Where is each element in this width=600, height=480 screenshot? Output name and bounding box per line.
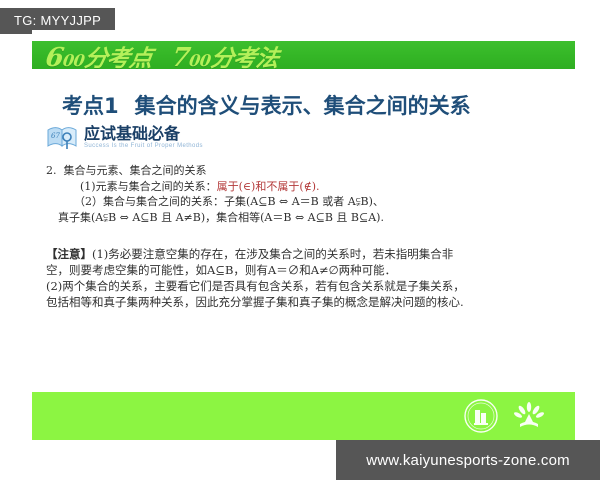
content-sub1-red: 属于(∈)和不属于(∉). (217, 180, 320, 193)
banner-word-kaodian: 分考点 (83, 45, 154, 69)
banner-word-kaofa: 分考法 (209, 45, 280, 69)
section-title: 应试基础必备 (84, 125, 203, 142)
svg-text:67: 67 (51, 132, 60, 140)
content-sub1-prefix: (1)元素与集合之间的关系： (80, 180, 217, 193)
note-marker: 【注意】 (46, 247, 92, 261)
top-green-banner: 600分考点700分考法 (32, 41, 575, 69)
note-line-4: 包括相等和真子集两种关系，因此充分掌握子集和真子集的概念是解决问题的核心. (46, 294, 562, 310)
content-body: 2. 集合与元素、集合之间的关系 (1)元素与集合之间的关系：属于(∈)和不属于… (46, 163, 558, 225)
university-seal-logo (463, 398, 499, 434)
page-title-text: 集合的含义与表示、集合之间的关系 (135, 94, 471, 118)
note-line-1-text: (1)务必要注意空集的存在，在涉及集合之间的关系时，若未指明集合非 (92, 247, 453, 261)
page-title-label: 考点1 (62, 94, 119, 118)
note-line-2: 空，则要考虑空集的可能性，如A⊆B，则有A＝∅和A≠∅两种可能． (46, 262, 562, 278)
section-subtitle: Success Is the Fruit of Proper Methods (84, 143, 203, 149)
content-sub-line-3: 真子集(A⫋B ⇔ A⊆B 且 A≠B)，集合相等(A＝B ⇔ A⊆B 且 B⊆… (46, 210, 558, 226)
page-title: 考点1集合的含义与表示、集合之间的关系 (62, 90, 562, 120)
section-header-text: 应试基础必备 Success Is the Fruit of Proper Me… (84, 125, 203, 149)
content-item-line: 2. 集合与元素、集合之间的关系 (46, 163, 558, 179)
note-line-1: 【注意】(1)务必要注意空集的存在，在涉及集合之间的关系时，若未指明集合非 (46, 246, 562, 262)
banner-calligraphy-text: 600分考点700分考法 (44, 41, 281, 69)
site-watermark: www.kaiyunesports-zone.com (336, 440, 600, 480)
note-line-3: (2)两个集合的关系，主要看它们是否具有包含关系，若有包含关系就是子集关系， (46, 278, 562, 294)
content-sub-line-2: （2）集合与集合之间的关系：子集(A⊆B ⇔ A＝B 或者 A⫋B)、 (46, 194, 558, 210)
banner-num-700-sub: 00 (188, 51, 212, 69)
book-magnifier-icon: 67 (46, 126, 80, 152)
section-header: 67 应试基础必备 Success Is the Fruit of Proper… (46, 126, 203, 152)
content-item-title: 集合与元素、集合之间的关系 (64, 164, 207, 177)
bottom-green-banner (32, 392, 575, 440)
content-sub-line-1: (1)元素与集合之间的关系：属于(∈)和不属于(∉). (46, 179, 558, 195)
leaf-emblem-logo (511, 398, 547, 434)
banner-num-600-sub: 00 (62, 51, 86, 69)
note-block: 【注意】(1)务必要注意空集的存在，在涉及集合之间的关系时，若未指明集合非 空，… (46, 246, 562, 310)
content-item-number: 2. (46, 164, 57, 177)
